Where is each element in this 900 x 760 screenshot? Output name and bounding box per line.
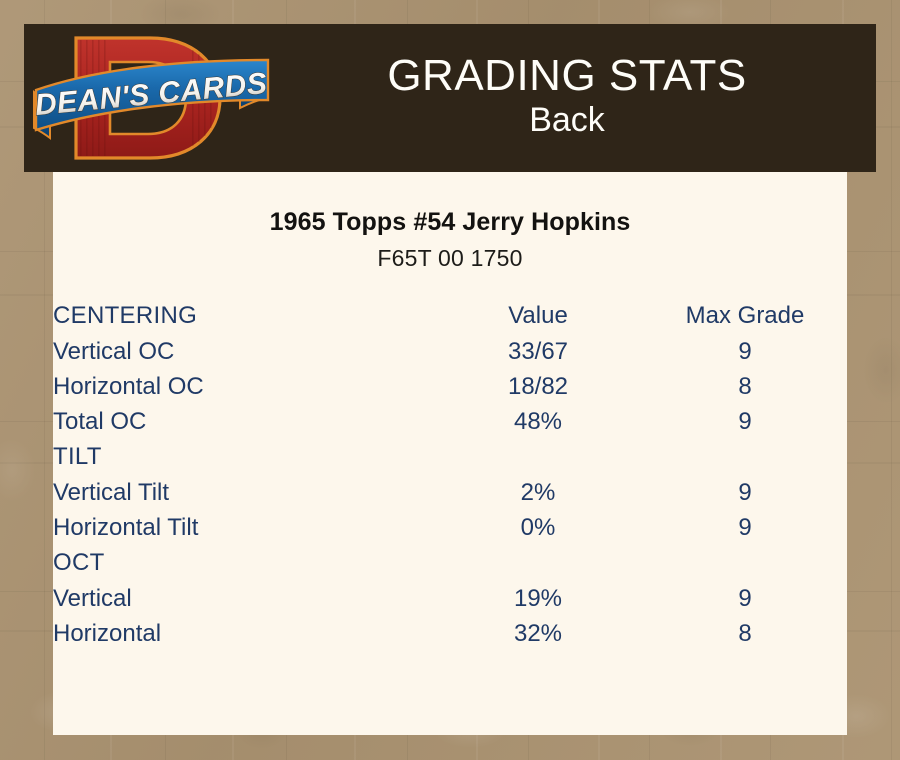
table-row: Vertical 19% 9	[53, 585, 847, 620]
page-subtitle: Back	[280, 100, 854, 140]
card-code: F65T 00 1750	[53, 245, 847, 272]
row-value: 18/82	[433, 373, 643, 408]
page-title: GRADING STATS	[280, 54, 854, 99]
table-row: Vertical Tilt 2% 9	[53, 479, 847, 514]
header-titles: GRADING STATS Back	[280, 54, 876, 143]
section-spacer	[643, 443, 847, 479]
deans-cards-logo[interactable]: DEAN'S CARDS	[24, 24, 280, 172]
row-grade: 9	[643, 585, 847, 620]
row-grade: 8	[643, 373, 847, 408]
row-grade: 9	[643, 514, 847, 549]
card-heading-block: 1965 Topps #54 Jerry Hopkins F65T 00 175…	[53, 172, 847, 272]
row-value: 32%	[433, 620, 643, 655]
table-row: Total OC 48% 9	[53, 408, 847, 443]
section-row-oct: OCT	[53, 549, 847, 585]
content-panel: 1965 Topps #54 Jerry Hopkins F65T 00 175…	[53, 172, 847, 735]
section-spacer	[433, 549, 643, 585]
table-row: Horizontal Tilt 0% 9	[53, 514, 847, 549]
card-title: 1965 Topps #54 Jerry Hopkins	[53, 208, 847, 237]
row-grade: 9	[643, 338, 847, 373]
section-spacer	[643, 549, 847, 585]
row-value: 33/67	[433, 338, 643, 373]
deans-cards-logo-icon: DEAN'S CARDS	[24, 24, 280, 172]
table-row: Horizontal 32% 8	[53, 620, 847, 655]
section-header-oct: OCT	[53, 549, 433, 585]
row-value: 0%	[433, 514, 643, 549]
row-label: Horizontal OC	[53, 373, 433, 408]
table-row: Vertical OC 33/67 9	[53, 338, 847, 373]
column-header-max-grade: Max Grade	[643, 302, 847, 338]
table-row: Horizontal OC 18/82 8	[53, 373, 847, 408]
grading-stats-table: CENTERING Value Max Grade Vertical OC 33…	[53, 302, 847, 655]
column-header-value: Value	[433, 302, 643, 338]
row-grade: 9	[643, 479, 847, 514]
row-label: Vertical OC	[53, 338, 433, 373]
section-row-tilt: TILT	[53, 443, 847, 479]
row-label: Horizontal Tilt	[53, 514, 433, 549]
table-header-row: CENTERING Value Max Grade	[53, 302, 847, 338]
section-header-tilt: TILT	[53, 443, 433, 479]
row-grade: 9	[643, 408, 847, 443]
row-label: Vertical	[53, 585, 433, 620]
row-label: Total OC	[53, 408, 433, 443]
section-spacer	[433, 443, 643, 479]
row-value: 2%	[433, 479, 643, 514]
row-value: 48%	[433, 408, 643, 443]
row-value: 19%	[433, 585, 643, 620]
header-bar: DEAN'S CARDS GRADING STATS Back	[24, 24, 876, 172]
section-header-centering: CENTERING	[53, 302, 433, 338]
row-label: Horizontal	[53, 620, 433, 655]
row-label: Vertical Tilt	[53, 479, 433, 514]
row-grade: 8	[643, 620, 847, 655]
